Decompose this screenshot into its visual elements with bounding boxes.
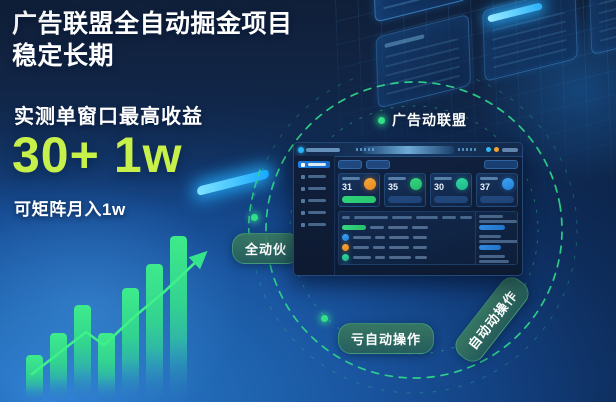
sidebar-item-devices[interactable]: [298, 209, 330, 216]
stat-value: 37: [480, 183, 490, 192]
big-number-right: 1w: [114, 127, 183, 183]
stat-badge-icon: [410, 178, 422, 190]
stat-label: [388, 177, 406, 180]
dashboard-main: 31 35 30 37: [334, 156, 522, 275]
table-row[interactable]: [342, 243, 472, 251]
avatar: [342, 264, 349, 266]
row-status-tag: [342, 225, 366, 230]
note-text: 可矩阵月入1w: [14, 195, 126, 220]
side-panel-block[interactable]: [479, 215, 518, 230]
sidebar-item-earnings[interactable]: [298, 197, 330, 204]
stat-value: 35: [388, 183, 398, 192]
stat-card[interactable]: 35: [384, 173, 426, 207]
big-number-left: 30+: [12, 127, 100, 183]
arc-dot-top: [378, 117, 385, 124]
page-title-line2: 稳定长期: [12, 40, 372, 72]
sidebar-item-home[interactable]: [298, 161, 330, 168]
stat-value: 31: [342, 183, 352, 192]
stat-card[interactable]: 37: [476, 173, 518, 207]
stat-badge-icon: [364, 178, 376, 190]
stat-badge-icon: [502, 178, 514, 190]
sidebar-item-accounts[interactable]: [298, 185, 330, 192]
account-icon[interactable]: [502, 148, 518, 152]
growth-chart: [14, 222, 224, 402]
dashboard-titlebar: [294, 143, 522, 157]
dashboard-toolbar[interactable]: [338, 160, 518, 169]
subtitle: 实测单窗口最高收益: [14, 100, 203, 129]
data-table[interactable]: [339, 212, 475, 264]
stat-label: [480, 177, 498, 180]
poster-root: 广告联盟全自动掘金项目 稳定长期 实测单窗口最高收益 30+1w 可矩阵月入1w…: [0, 0, 616, 402]
stat-badge-icon: [456, 178, 468, 190]
side-panel-block[interactable]: [479, 235, 518, 250]
stat-card[interactable]: 31: [338, 173, 380, 207]
logo-icon: [298, 147, 340, 153]
stat-action-button[interactable]: [388, 196, 422, 203]
page-title-line1: 广告联盟全自动掘金项目: [12, 8, 372, 40]
badge-bottom: 亏自动操作: [338, 323, 434, 354]
headline-block: 广告联盟全自动掘金项目 稳定长期: [12, 8, 372, 72]
dashboard-side-panel[interactable]: [475, 212, 518, 264]
sidebar-item-settings[interactable]: [298, 221, 330, 228]
circle-label-top: 广告动联盟: [392, 110, 467, 130]
side-panel-button[interactable]: [479, 245, 501, 250]
dashboard-window-controls[interactable]: [486, 147, 518, 152]
stat-card-row: 31 35 30 37: [338, 173, 518, 207]
stat-card[interactable]: 30: [430, 173, 472, 207]
logo-mark: [298, 147, 304, 153]
side-panel-block[interactable]: [479, 255, 518, 265]
sidebar-item-tasks[interactable]: [298, 173, 330, 180]
avatar: [342, 244, 349, 251]
dashboard-window[interactable]: 31 35 30 37: [293, 142, 523, 276]
stat-action-button[interactable]: [434, 196, 468, 203]
table-row[interactable]: [342, 253, 472, 261]
arc-dot-left: [251, 214, 258, 221]
tech-panel: [589, 0, 616, 55]
chart-trend-line: [14, 222, 224, 402]
stat-action-button[interactable]: [480, 196, 514, 203]
dashboard-title: [362, 146, 454, 154]
filter-chip-2[interactable]: [366, 160, 390, 169]
stat-action-button[interactable]: [342, 196, 376, 203]
table-row[interactable]: [342, 223, 472, 231]
arc-dot-bottom: [321, 315, 328, 322]
table-row[interactable]: [342, 233, 472, 241]
logo-wordmark: [306, 148, 340, 152]
avatar: [342, 254, 349, 261]
stat-value: 30: [434, 183, 444, 192]
action-button[interactable]: [484, 160, 518, 169]
dashboard-sidebar[interactable]: [294, 156, 335, 275]
avatar: [342, 234, 349, 241]
table-header: [342, 215, 472, 220]
side-panel-button[interactable]: [479, 225, 505, 230]
stat-label: [342, 177, 360, 180]
big-number: 30+1w: [12, 130, 183, 180]
gear-icon[interactable]: [494, 147, 499, 152]
table-row[interactable]: [342, 263, 472, 265]
close-icon[interactable]: [486, 147, 491, 152]
title-deco-right: [458, 148, 478, 151]
stat-label: [434, 177, 452, 180]
badge-left: 全动伙: [232, 233, 300, 264]
filter-chip-1[interactable]: [338, 160, 362, 169]
dashboard-table-panel: [338, 211, 518, 265]
